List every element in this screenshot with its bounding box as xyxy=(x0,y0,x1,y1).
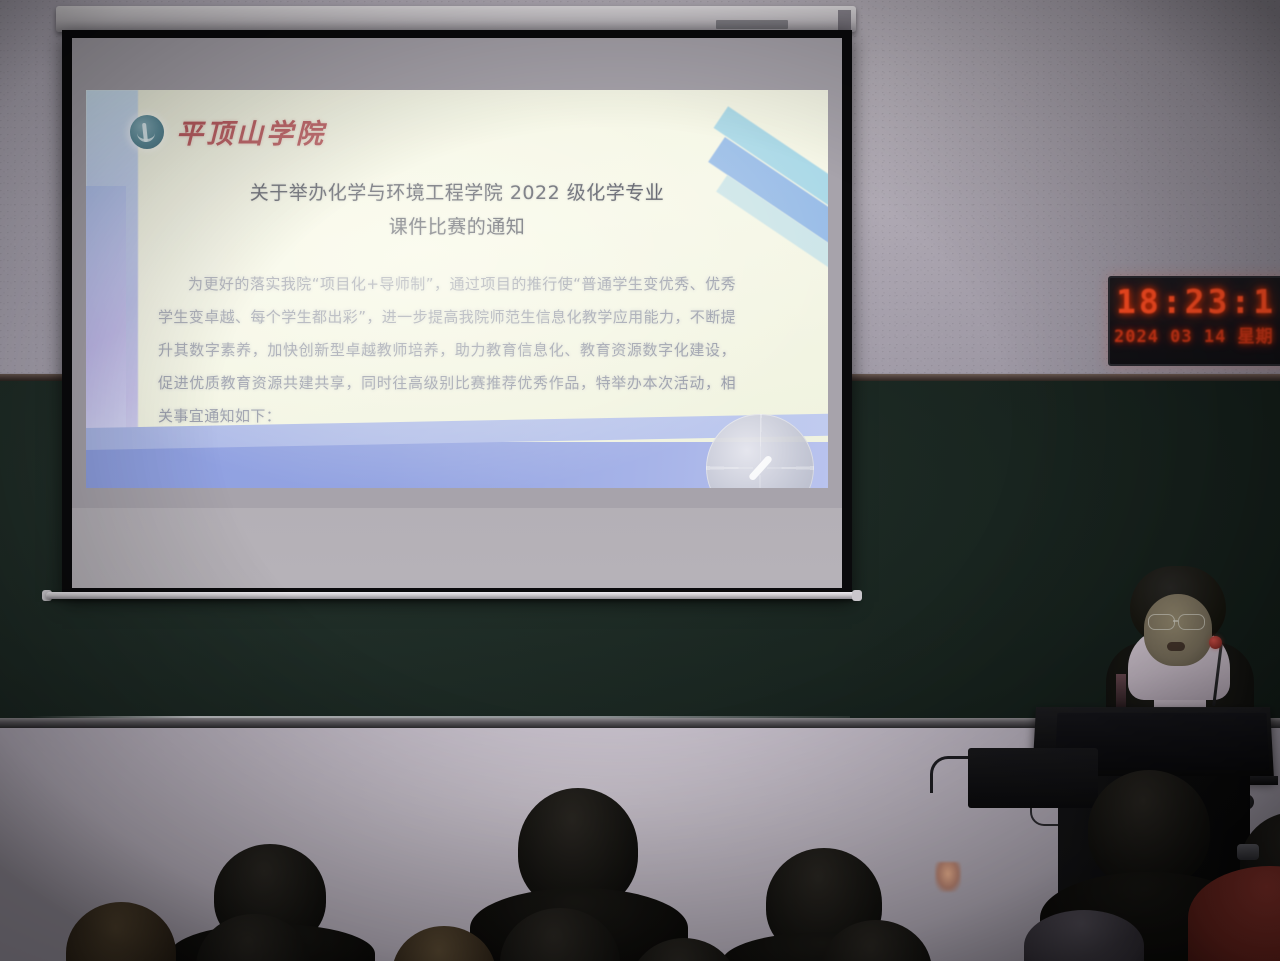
lectern-post xyxy=(1116,674,1126,708)
housing-label xyxy=(716,20,788,29)
led-clock-display: 18:23:1 2024 03 14 星期 xyxy=(1108,276,1280,366)
slide-title-line-1: 关于举办化学与环境工程学院 2022 级化学专业 xyxy=(86,176,828,210)
presenter-glasses-right-lens xyxy=(1178,614,1205,630)
microphone-icon xyxy=(1209,636,1222,649)
audience-head xyxy=(66,902,176,961)
slide-body-paragraph: 为更好的落实我院“项目化+导师制”，通过项目的推行使“普通学生变优秀、优秀学生变… xyxy=(158,268,736,433)
university-name: 平顶山学院 xyxy=(176,112,326,151)
presenter-mouth xyxy=(1167,642,1185,651)
slide-body-text: 为更好的落实我院“项目化+导师制”，通过项目的推行使“普通学生变优秀、优秀学生变… xyxy=(158,268,736,433)
audience-head xyxy=(1088,770,1210,888)
projection-screen: 平顶山学院 关于举办化学与环境工程学院 2022 级化学专业 课件比赛的通知 为… xyxy=(62,30,852,596)
led-clock-date: 2024 03 14 星期 xyxy=(1114,322,1274,347)
university-branding: 平顶山学院 xyxy=(130,112,326,151)
slide-title: 关于举办化学与环境工程学院 2022 级化学专业 课件比赛的通知 xyxy=(86,176,828,244)
presenter-face xyxy=(1144,594,1212,666)
audience xyxy=(0,756,1280,961)
screen-housing xyxy=(56,6,856,32)
presentation-slide: 平顶山学院 关于举办化学与环境工程学院 2022 级化学专业 课件比赛的通知 为… xyxy=(86,90,828,488)
slide-title-line-2: 课件比赛的通知 xyxy=(86,210,828,244)
presenter-glasses-bridge xyxy=(1173,620,1178,622)
presenter-glasses-left-lens xyxy=(1148,614,1175,630)
screen-weighted-bar xyxy=(46,592,858,599)
screen-bar-cap-right xyxy=(852,590,862,601)
phone-screen-glow xyxy=(935,862,961,892)
camera-rig xyxy=(968,748,1098,808)
lecture-hall-scene: 平顶山学院 关于举办化学与环境工程学院 2022 级化学专业 课件比赛的通知 为… xyxy=(0,0,1280,961)
screen-surface: 平顶山学院 关于举办化学与环境工程学院 2022 级化学专业 课件比赛的通知 为… xyxy=(72,38,842,588)
university-emblem-icon xyxy=(130,115,164,149)
led-clock-time: 18:23:1 xyxy=(1116,282,1276,321)
wristwatch xyxy=(1237,844,1259,860)
